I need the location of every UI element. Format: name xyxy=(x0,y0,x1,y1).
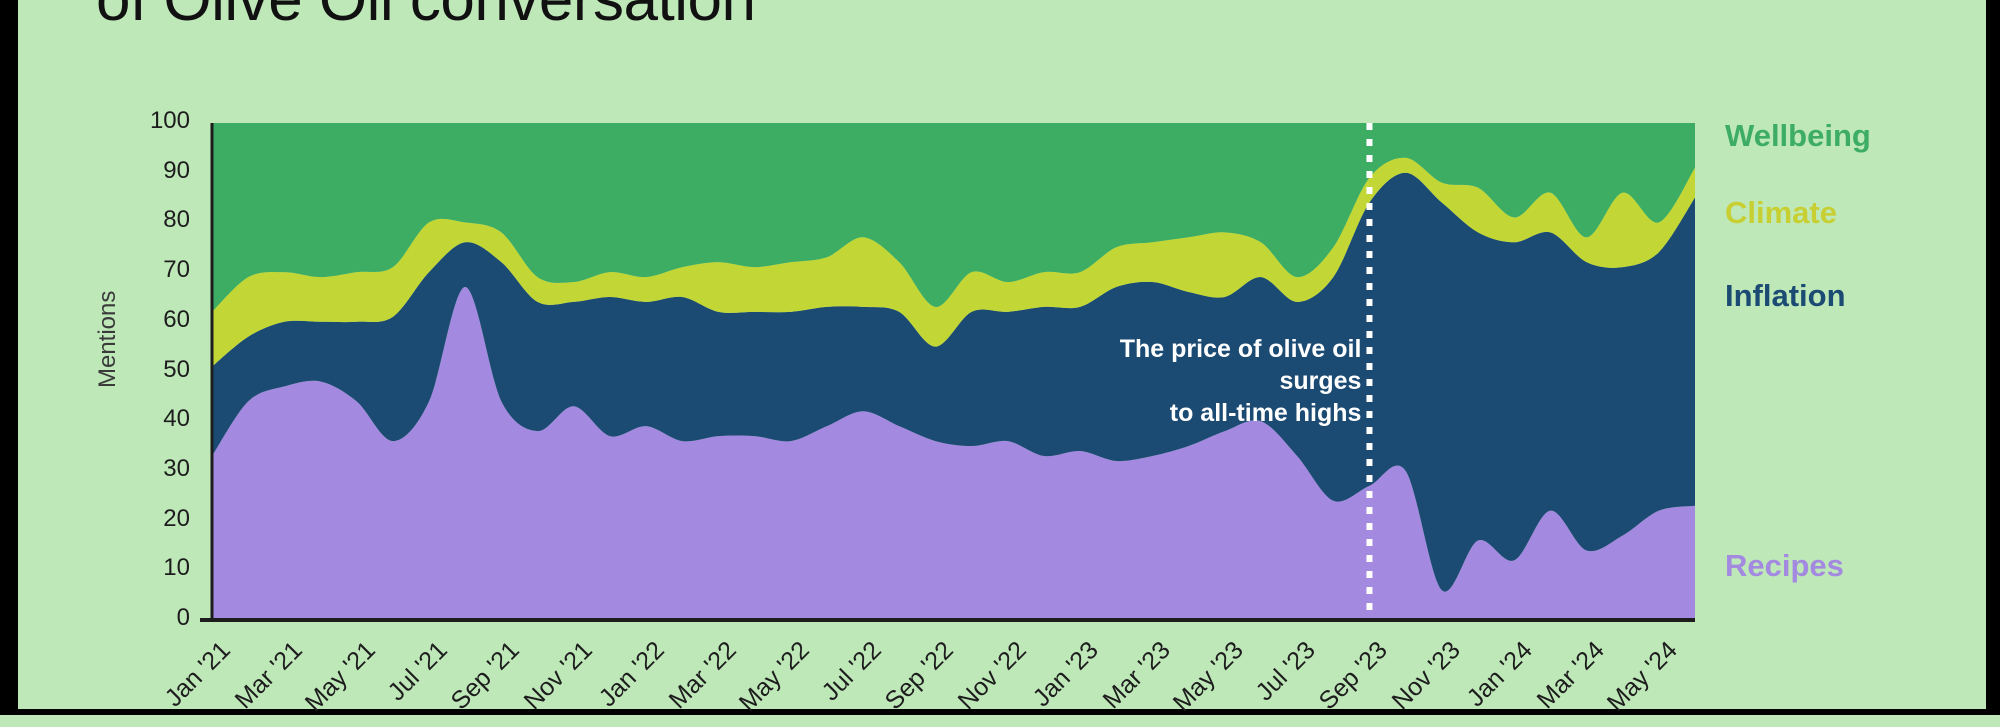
annotation-text: The price of olive oil surges to all-tim… xyxy=(1069,333,1361,429)
y-tick-label: 40 xyxy=(120,405,190,433)
legend-item-wellbeing[interactable]: Wellbeing xyxy=(1725,118,1871,154)
y-axis-label: Mentions xyxy=(94,291,122,388)
y-tick-label: 90 xyxy=(120,157,190,185)
y-tick-label: 0 xyxy=(120,604,190,632)
y-tick-label: 80 xyxy=(120,206,190,234)
y-tick-label: 10 xyxy=(120,554,190,582)
y-tick-label: 30 xyxy=(120,455,190,483)
area-chart: 0102030405060708090100MentionsJan '21Mar… xyxy=(0,0,2000,715)
legend-item-inflation[interactable]: Inflation xyxy=(1725,278,1846,314)
y-tick-label: 100 xyxy=(120,107,190,135)
y-tick-label: 20 xyxy=(120,505,190,533)
y-tick-label: 70 xyxy=(120,256,190,284)
y-tick-label: 50 xyxy=(120,356,190,384)
chart-page: of Olive Oil conversation 01020304050607… xyxy=(0,0,2000,715)
y-tick-label: 60 xyxy=(120,306,190,334)
chart-svg xyxy=(0,0,2000,715)
legend-item-recipes[interactable]: Recipes xyxy=(1725,548,1844,584)
legend-item-climate[interactable]: Climate xyxy=(1725,195,1837,231)
